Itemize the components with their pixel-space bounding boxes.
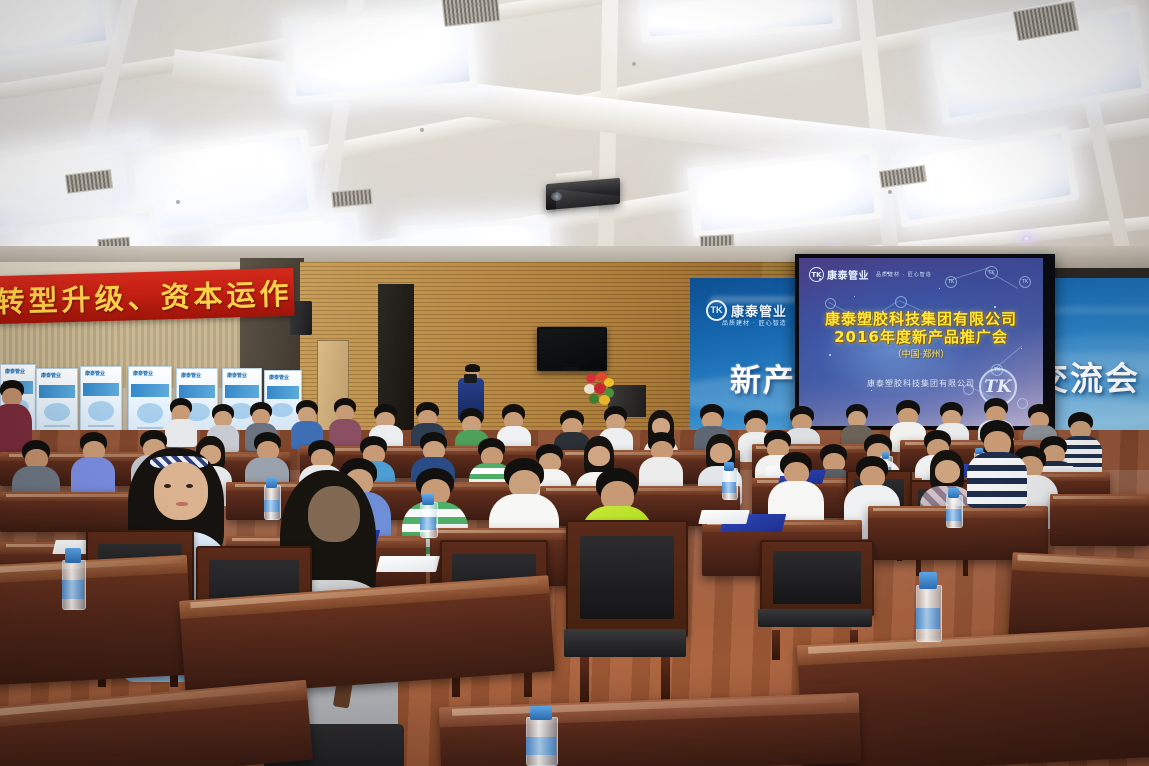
slide-title-line2: 2016年度新产品推广会 bbox=[834, 326, 1008, 347]
floral-arrangement bbox=[582, 372, 618, 406]
chair[interactable] bbox=[760, 540, 870, 652]
slide-footer: 康泰塑胶科技集团有限公司 bbox=[867, 378, 975, 389]
slide-logo: TK 康泰管业 品质建材 · 匠心智造 bbox=[809, 267, 932, 282]
backdrop-logo-text: 康泰管业 bbox=[731, 301, 787, 320]
photographer-hair bbox=[465, 364, 480, 372]
node-icon: TK bbox=[985, 266, 998, 279]
projector-lens-icon bbox=[551, 192, 562, 201]
tk-logo-icon: TK bbox=[809, 267, 824, 282]
poster-logo: 康泰管业 bbox=[269, 374, 289, 381]
poster-logo: 康泰管业 bbox=[181, 372, 201, 379]
ceiling-light-panel bbox=[687, 148, 883, 237]
backdrop-logo-slogan: 品质建材 · 匠心智造 bbox=[722, 318, 787, 327]
node-icon: TK bbox=[945, 276, 957, 288]
ceiling-light-panel bbox=[0, 0, 114, 66]
water-bottle bbox=[526, 706, 556, 766]
conference-hall-photo: 转型升级、资本运作 TK 康泰管业 品质建材 · 匠心智造 新产品 交流会 bbox=[0, 0, 1149, 766]
chair[interactable] bbox=[566, 520, 684, 696]
slide-logo-slogan: 品质建材 · 匠心智造 bbox=[876, 271, 932, 278]
node-icon: TK bbox=[1019, 276, 1031, 288]
poster-logo: 康泰管业 bbox=[5, 368, 25, 375]
poster-logo: 康泰管业 bbox=[133, 370, 153, 377]
air-vent bbox=[331, 188, 372, 207]
water-bottle bbox=[946, 488, 961, 528]
poster-logo: 康泰管业 bbox=[41, 372, 61, 379]
banner-text: 转型升级、资本运作 bbox=[0, 271, 293, 321]
ceiling-light-panel bbox=[639, 0, 842, 43]
projection-screen[interactable]: TK TK TK TK TK 康泰管业 品质建材 · 匠心智造 康泰塑胶科技集团… bbox=[799, 258, 1043, 426]
handout-paper bbox=[376, 556, 440, 572]
projection-screen-frame: TK TK TK TK TK 康泰管业 品质建材 · 匠心智造 康泰塑胶科技集团… bbox=[795, 254, 1055, 438]
tv-bracket bbox=[562, 367, 578, 371]
water-bottle bbox=[722, 462, 736, 500]
downlight bbox=[1022, 236, 1031, 241]
water-bottle bbox=[62, 548, 84, 610]
foreground-desk bbox=[0, 555, 193, 685]
red-wall-banner: 转型升级、资本运作 bbox=[0, 268, 295, 324]
water-bottle bbox=[264, 478, 279, 520]
node-icon bbox=[895, 296, 907, 308]
camera-icon bbox=[464, 374, 477, 383]
poster-logo: 康泰管业 bbox=[227, 372, 247, 379]
wall-mounted-tv[interactable] bbox=[537, 327, 607, 371]
backdrop-logo: TK 康泰管业 bbox=[706, 300, 802, 320]
desk-row bbox=[1050, 494, 1149, 546]
water-bottle bbox=[420, 494, 436, 538]
node-icon bbox=[1017, 398, 1028, 409]
slide-logo-text: 康泰管业 bbox=[827, 267, 869, 282]
water-bottle bbox=[916, 572, 940, 642]
poster-logo: 康泰管业 bbox=[85, 370, 105, 377]
air-vent bbox=[442, 0, 501, 27]
slide-subtitle: （中国·郑州） bbox=[893, 347, 950, 360]
handout-paper bbox=[698, 510, 749, 524]
